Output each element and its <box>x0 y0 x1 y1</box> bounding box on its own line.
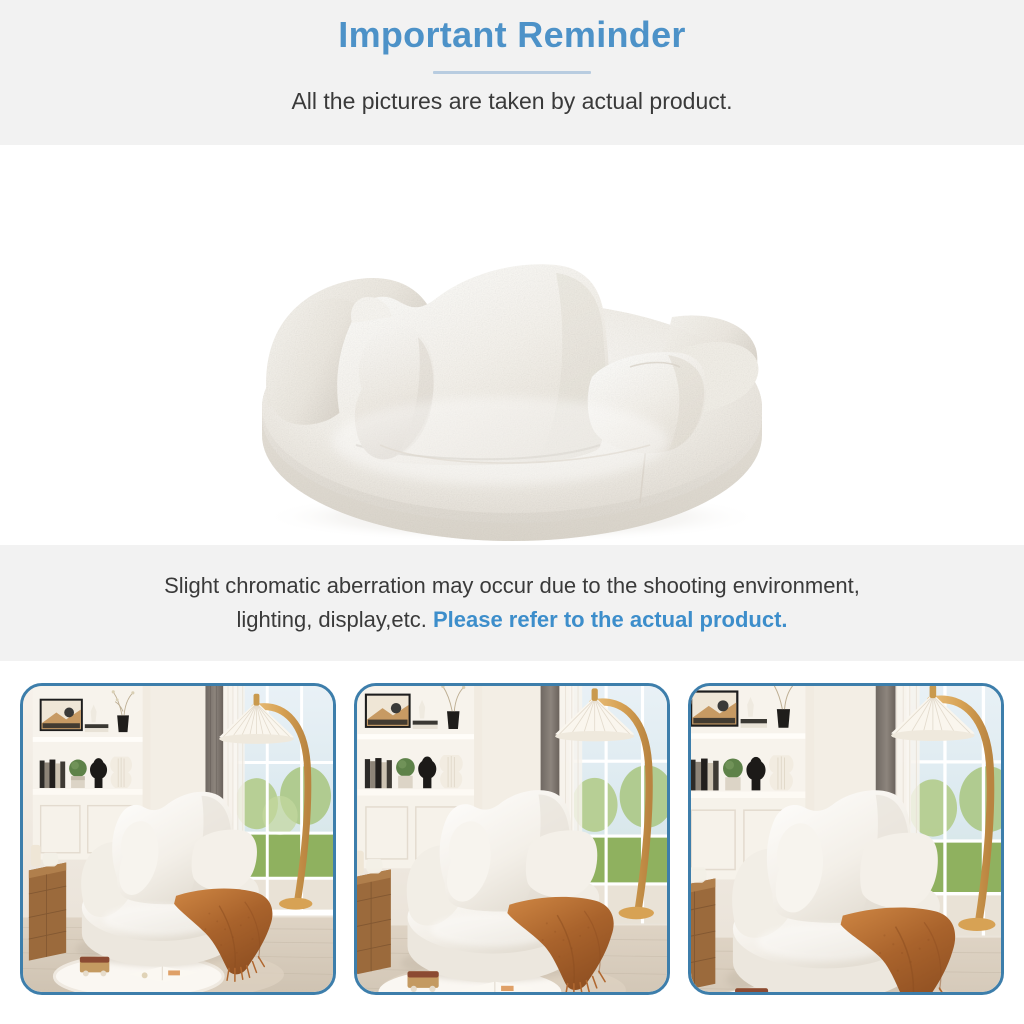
room-scene-3 <box>691 686 1001 992</box>
product-detail-image: Important Reminder All the pictures are … <box>0 0 1024 1024</box>
note-line-2-plain: lighting, display,etc. <box>236 607 432 632</box>
thumbnail-1-image <box>23 686 333 992</box>
thumbnail-1[interactable]: Living room scene: white boucle round sw… <box>20 683 336 995</box>
note-line-1: Slight chromatic aberration may occur du… <box>164 569 860 603</box>
thumbnail-1-alt: Living room scene: white boucle round sw… <box>23 686 24 687</box>
lifestyle-thumbnail-row: Living room scene: white boucle round sw… <box>0 661 1024 1024</box>
thumbnail-2-alt: Living room scene: white boucle round sw… <box>357 686 358 687</box>
thumbnail-2[interactable]: Living room scene: white boucle round sw… <box>354 683 670 995</box>
thumbnail-3[interactable]: Living room scene: white boucle round sw… <box>688 683 1004 995</box>
header-subtitle: All the pictures are taken by actual pro… <box>291 87 732 117</box>
thumbnail-3-image <box>691 686 1001 992</box>
title-divider <box>433 71 591 74</box>
note-line-2-accent: Please refer to the actual product. <box>433 607 788 632</box>
note-line-2: lighting, display,etc. Please refer to t… <box>236 603 787 637</box>
thumbnail-2-image <box>357 686 667 992</box>
room-scene-2 <box>357 686 667 992</box>
room-scene-1 <box>23 686 333 992</box>
hero-product-photo: White boucle upholstered round swivel ba… <box>0 145 1024 545</box>
chair-illustration <box>0 145 1024 545</box>
chromatic-aberration-note: Slight chromatic aberration may occur du… <box>0 545 1024 661</box>
page-title: Important Reminder <box>338 12 685 57</box>
reminder-header-band: Important Reminder All the pictures are … <box>0 0 1024 145</box>
hero-stage <box>0 145 1024 545</box>
topiary-1 <box>69 760 87 778</box>
book-stack-1 <box>40 760 66 788</box>
thumbnail-3-alt: Living room scene: white boucle round sw… <box>691 686 692 687</box>
